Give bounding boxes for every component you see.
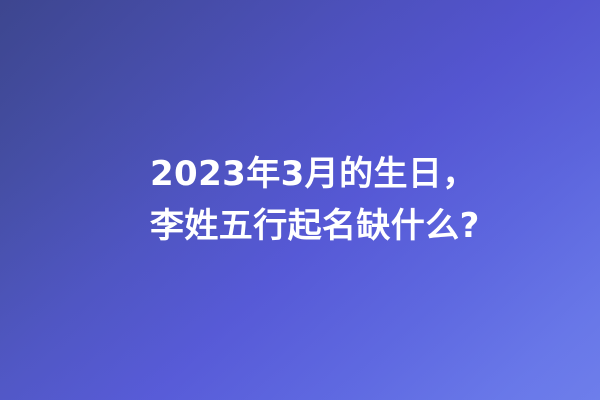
headline-text-block: 2023年3月的生日， 李姓五行起名缺什么? — [150, 148, 560, 252]
title-banner-card: 2023年3月的生日， 李姓五行起名缺什么? — [0, 0, 600, 400]
headline-line-2: 李姓五行起名缺什么? — [150, 200, 560, 252]
headline-line-1: 2023年3月的生日， — [150, 148, 560, 200]
